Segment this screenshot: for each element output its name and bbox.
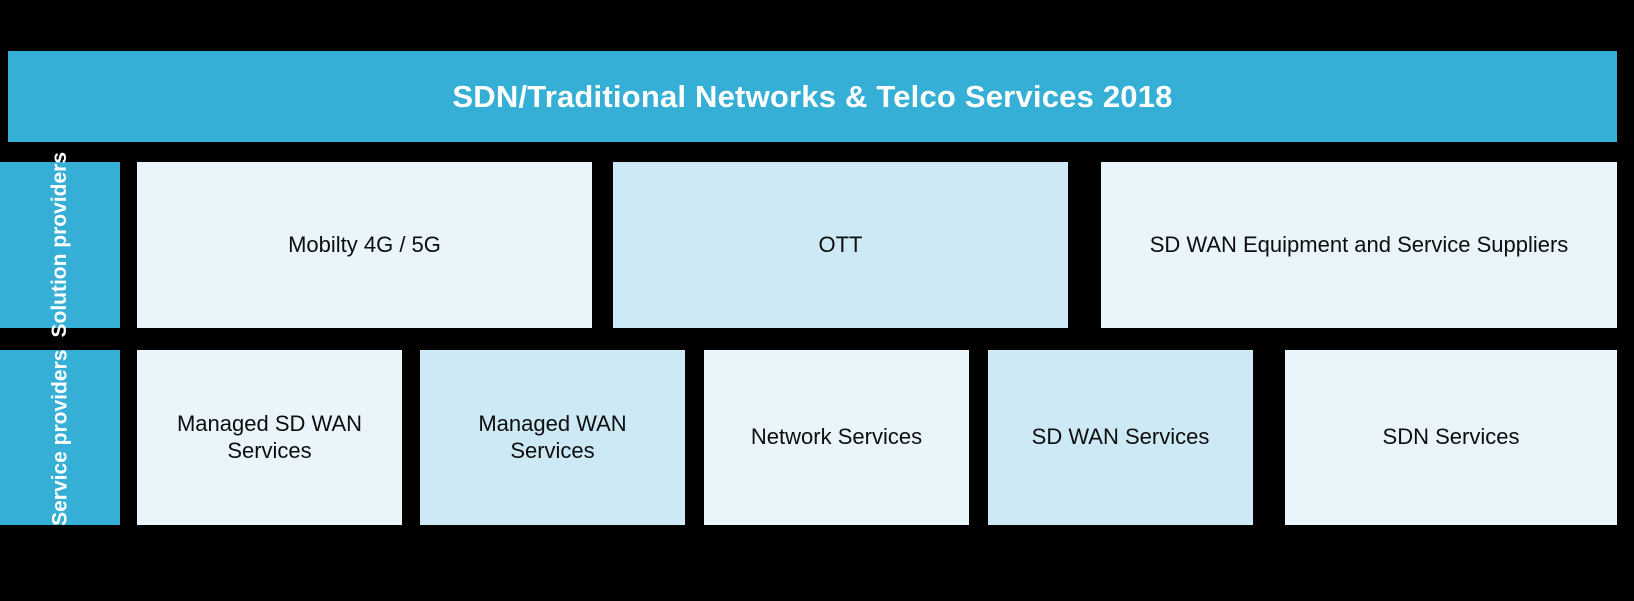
- row-label-service-providers: Service providers: [0, 350, 120, 525]
- box-label: SD WAN Equipment and Service Suppliers: [1150, 232, 1569, 258]
- box-managed-sd-wan-services[interactable]: Managed SD WAN Services: [137, 350, 402, 525]
- box-sd-wan-equipment-and-service-suppliers[interactable]: SD WAN Equipment and Service Suppliers: [1101, 162, 1617, 328]
- diagram-canvas: SDN/Traditional Networks & Telco Service…: [0, 0, 1634, 601]
- box-label: Mobilty 4G / 5G: [288, 232, 441, 258]
- page-title: SDN/Traditional Networks & Telco Service…: [452, 79, 1172, 115]
- box-label: OTT: [819, 232, 863, 258]
- box-ott[interactable]: OTT: [613, 162, 1068, 328]
- box-label: Managed SD WAN Services: [151, 411, 388, 464]
- box-network-services[interactable]: Network Services: [704, 350, 969, 525]
- box-label: Network Services: [751, 424, 922, 450]
- row-label-service-providers-text: Service providers: [48, 349, 72, 525]
- box-label: Managed WAN Services: [434, 411, 671, 464]
- box-label: SD WAN Services: [1032, 424, 1210, 450]
- box-mobility-4g-5g[interactable]: Mobilty 4G / 5G: [137, 162, 592, 328]
- box-sd-wan-services[interactable]: SD WAN Services: [988, 350, 1253, 525]
- diagram-title-banner: SDN/Traditional Networks & Telco Service…: [8, 51, 1617, 142]
- box-managed-wan-services[interactable]: Managed WAN Services: [420, 350, 685, 525]
- box-sdn-services[interactable]: SDN Services: [1285, 350, 1617, 525]
- row-label-solution-providers: Solution providers: [0, 162, 120, 328]
- box-label: SDN Services: [1383, 424, 1520, 450]
- row-label-solution-providers-text: Solution providers: [48, 152, 72, 338]
